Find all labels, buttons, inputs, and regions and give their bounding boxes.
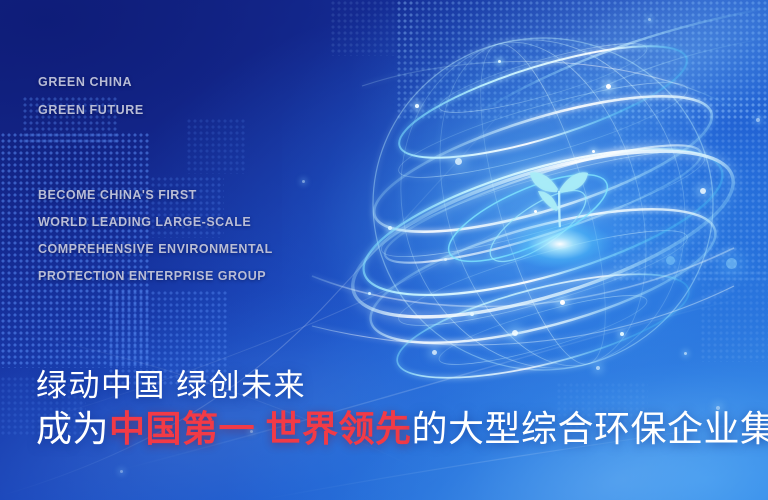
banner-canvas: GREEN CHINA GREEN FUTURE BECOME CHINA'S … xyxy=(0,0,768,500)
english-statement: BECOME CHINA'S FIRST WORLD LEADING LARGE… xyxy=(38,182,273,290)
english-tagline: GREEN CHINA GREEN FUTURE xyxy=(38,68,144,124)
tagline-line-1: GREEN CHINA xyxy=(38,68,144,96)
statement-line-1: BECOME CHINA'S FIRST xyxy=(38,182,273,209)
headline-prefix: 成为 xyxy=(36,408,109,449)
sprout-core-glow xyxy=(500,215,620,273)
chinese-headline: 绿动中国 绿创未来 成为中国第一 世界领先的大型综合环保企业集团 xyxy=(36,366,768,452)
headline-line-2: 成为中国第一 世界领先的大型综合环保企业集团 xyxy=(36,406,768,452)
sprout-icon xyxy=(526,163,592,235)
globe-rings xyxy=(352,26,734,382)
headline-line-1: 绿动中国 绿创未来 xyxy=(36,366,768,406)
statement-line-4: PROTECTION ENTERPRISE GROUP xyxy=(38,263,273,290)
statement-line-3: COMPREHENSIVE ENVIRONMENTAL xyxy=(38,236,273,263)
statement-line-2: WORLD LEADING LARGE-SCALE xyxy=(38,209,273,236)
wireframe-globe xyxy=(352,26,734,382)
headline-suffix: 的大型综合环保企业集团 xyxy=(412,408,768,449)
tagline-line-2: GREEN FUTURE xyxy=(38,96,144,124)
headline-highlight: 中国第一 世界领先 xyxy=(109,408,412,449)
